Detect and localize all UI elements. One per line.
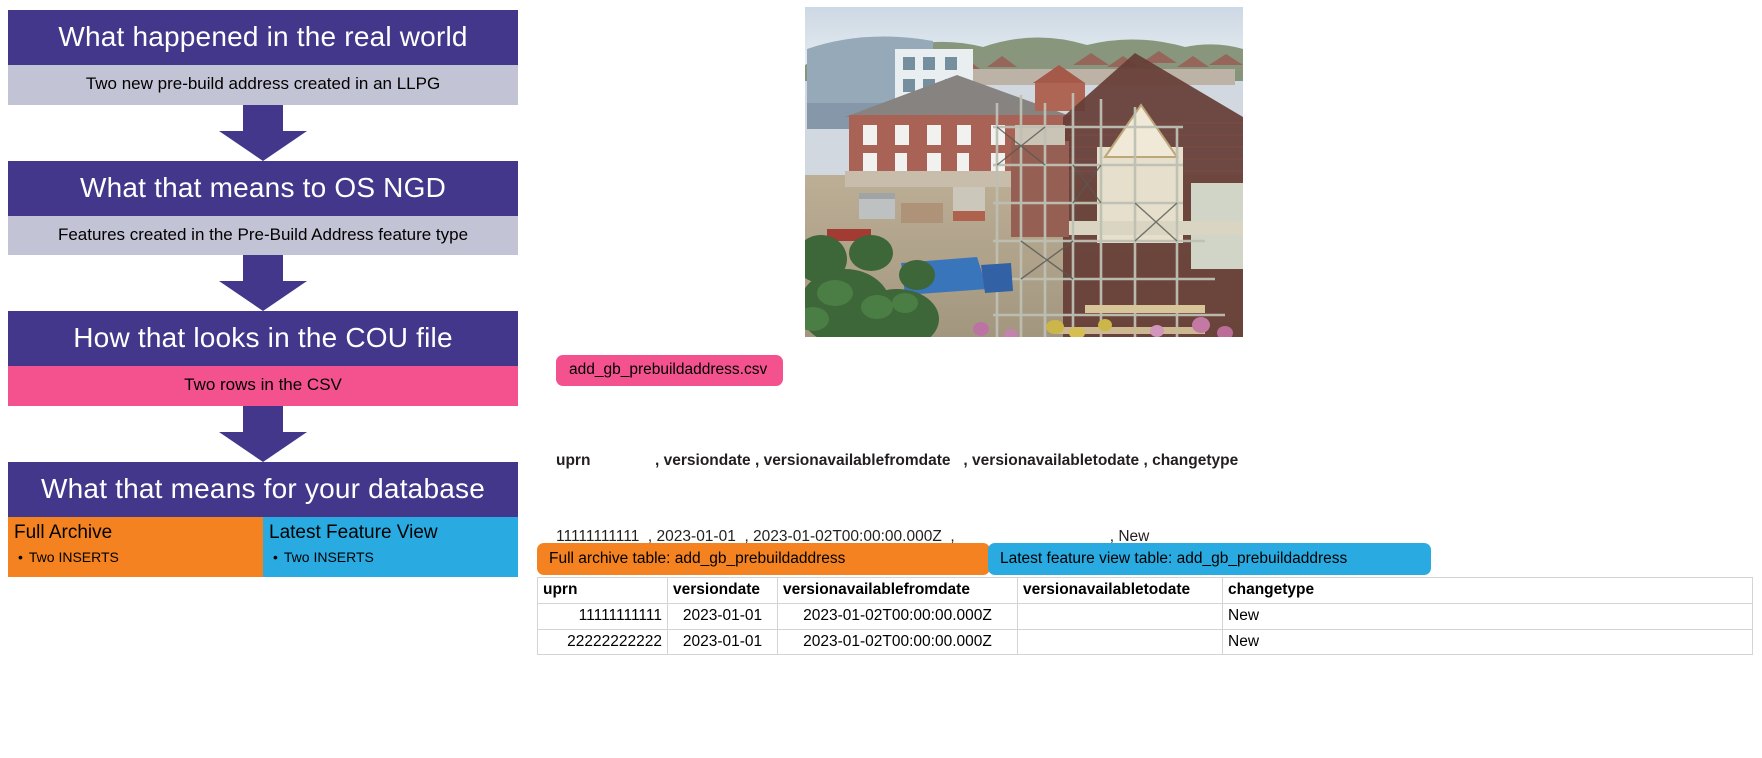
tab-latest-feature-view-table[interactable]: Latest feature view table: add_gb_prebui… (988, 543, 1431, 575)
database-table-tabs: Full archive table: add_gb_prebuildaddre… (537, 543, 1752, 575)
column-header-versionavailabletodate: versionavailabletodate (1018, 578, 1223, 604)
flow-step-2-header: What that means to OS NGD (8, 161, 518, 216)
outcome-latest-feature-view-title: Latest Feature View (263, 521, 518, 546)
csv-header-line: uprn , versiondate , versionavailablefro… (556, 448, 1556, 474)
flow-arrow-3 (8, 406, 518, 462)
flow-step-4: What that means for your database Full A… (8, 462, 518, 577)
slide-canvas: What happened in the real world Two new … (0, 0, 1762, 758)
cell-versiondate: 2023-01-01 (668, 629, 778, 655)
flow-arrow-1 (8, 105, 518, 161)
flow-step-2-body: Features created in the Pre-Build Addres… (8, 216, 518, 256)
flow-step-1: What happened in the real world Two new … (8, 10, 518, 105)
tab-full-archive-table[interactable]: Full archive table: add_gb_prebuildaddre… (537, 543, 990, 575)
database-result-table: uprn versiondate versionavailablefromdat… (537, 577, 1753, 655)
cell-changetype: New (1223, 603, 1753, 629)
cell-versionavailabletodate (1018, 603, 1223, 629)
flow-step-4-header: What that means for your database (8, 462, 518, 517)
cell-uprn: 11111111111 (538, 603, 668, 629)
table-row: 22222222222 2023-01-01 2023-01-02T00:00:… (538, 629, 1753, 655)
csv-filename-badge: add_gb_prebuildaddress.csv (556, 355, 783, 386)
cell-versiondate: 2023-01-01 (668, 603, 778, 629)
flow-arrow-2 (8, 255, 518, 311)
outcome-full-archive-bullet: Two INSERTS (8, 546, 263, 569)
construction-site-photo (805, 7, 1243, 337)
process-flow: What happened in the real world Two new … (8, 10, 518, 577)
column-header-versiondate: versiondate (668, 578, 778, 604)
cell-versionavailabletodate (1018, 629, 1223, 655)
outcome-latest-feature-view-bullet: Two INSERTS (263, 546, 518, 569)
flow-step-1-body: Two new pre-build address created in an … (8, 65, 518, 105)
column-header-changetype: changetype (1223, 578, 1753, 604)
cell-versionavailablefromdate: 2023-01-02T00:00:00.000Z (778, 629, 1018, 655)
flow-step-3: How that looks in the COU file Two rows … (8, 311, 518, 406)
flow-step-2: What that means to OS NGD Features creat… (8, 161, 518, 256)
cell-uprn: 22222222222 (538, 629, 668, 655)
flow-step-3-body: Two rows in the CSV (8, 366, 518, 406)
flow-step-1-header: What happened in the real world (8, 10, 518, 65)
table-header-row: uprn versiondate versionavailablefromdat… (538, 578, 1753, 604)
cell-changetype: New (1223, 629, 1753, 655)
database-tables-block: Full archive table: add_gb_prebuildaddre… (537, 543, 1752, 655)
table-row: 11111111111 2023-01-01 2023-01-02T00:00:… (538, 603, 1753, 629)
column-header-versionavailablefromdate: versionavailablefromdate (778, 578, 1018, 604)
outcome-full-archive-title: Full Archive (8, 521, 263, 546)
cell-versionavailablefromdate: 2023-01-02T00:00:00.000Z (778, 603, 1018, 629)
database-outcome-split: Full Archive Two INSERTS Latest Feature … (8, 517, 518, 577)
column-header-uprn: uprn (538, 578, 668, 604)
outcome-latest-feature-view: Latest Feature View Two INSERTS (263, 517, 518, 577)
outcome-full-archive: Full Archive Two INSERTS (8, 517, 263, 577)
flow-step-3-header: How that looks in the COU file (8, 311, 518, 366)
